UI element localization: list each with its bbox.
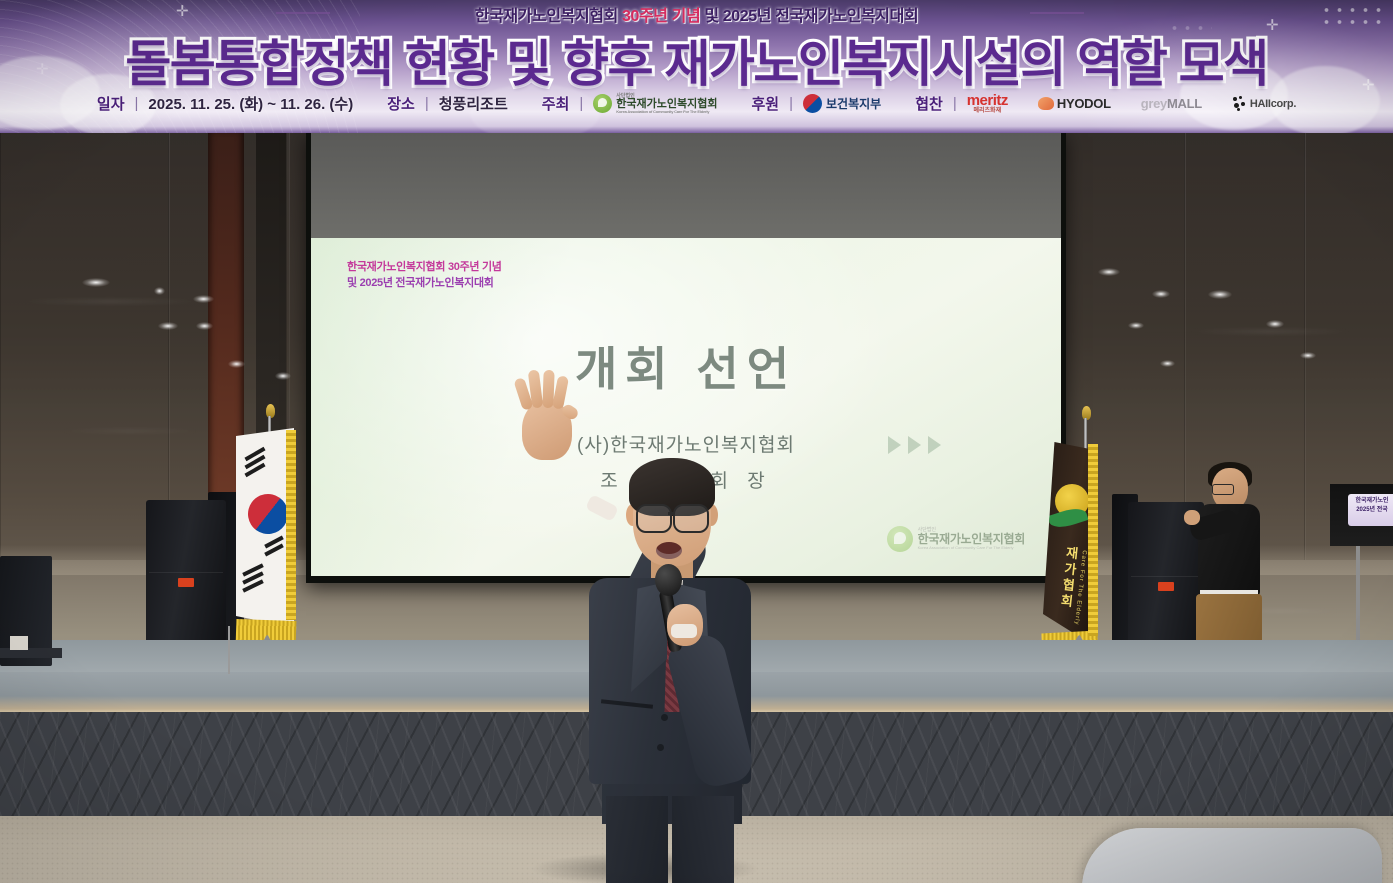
ceiling-light-reflection: [82, 278, 110, 287]
greymall-part-1: grey: [1141, 96, 1167, 111]
marble-vein: [20, 300, 200, 303]
jacket-button: [657, 744, 664, 751]
ceiling-light-reflection: [1152, 290, 1170, 298]
projection-screen-blank-area: [311, 133, 1061, 238]
presenter-raised-hand: [522, 400, 572, 460]
ceiling-light-reflection: [1208, 290, 1232, 299]
hyodol-mark-icon: [1038, 97, 1054, 110]
glasses-bridge: [668, 512, 675, 515]
presenter-shirt-cuff: [671, 624, 697, 638]
association-logo-text: 사단법인 한국재가노인복지협회 Korea Association of Com…: [616, 94, 717, 114]
small-box-prop: [10, 636, 28, 650]
ceiling-light-reflection: [158, 322, 178, 330]
triangle-right-icon: [908, 436, 921, 454]
banner-info-row: 일자 | 2025. 11. 25. (화) ~ 11. 26. (수) 장소 …: [0, 93, 1393, 114]
sponsor-haii-name: HAIIcorp.: [1250, 98, 1296, 110]
ceiling-light-reflection: [193, 295, 214, 303]
slide-header-line-2: 및 2025년 전국재가노인복지대회: [347, 276, 502, 292]
separator: |: [425, 95, 429, 112]
haii-mark-icon: [1232, 96, 1247, 111]
marble-vein: [1190, 330, 1350, 333]
ceiling-light-reflection: [1160, 360, 1175, 367]
triangle-right-icon: [928, 436, 941, 454]
technician-hand: [1184, 510, 1200, 525]
ceiling-light-reflection: [228, 360, 245, 368]
presenter-mouth: [656, 542, 682, 559]
slide-arrow-decoration: [888, 436, 941, 454]
sponsor-hyodol-logo: HYODOL: [1038, 96, 1111, 111]
association-mark-icon: [593, 94, 612, 113]
support-value: 보건복지부: [826, 95, 881, 112]
sponsor-meritz-name: meritz: [967, 93, 1008, 108]
separator: |: [953, 95, 957, 112]
ceiling-light-reflection: [154, 287, 165, 295]
mic-stand: [228, 626, 230, 674]
banner-top-seg-highlight: 30주년 기념: [622, 8, 700, 25]
triangle-right-icon: [888, 436, 901, 454]
technician-person: [1186, 462, 1276, 670]
jbl-logo-icon: [178, 578, 194, 587]
slide-header-line-1: 한국재가노인복지협회 30주년 기념: [347, 260, 502, 276]
ceiling-light-reflection: [1128, 322, 1144, 329]
date-label: 일자: [97, 93, 125, 114]
host-sub-bottom: Korea Association of Community Care For …: [616, 110, 717, 114]
banner-main-title: 돌봄통합정책 현황 및 향후 재가노인복지시설의 역할 모색: [0, 24, 1393, 96]
separator: |: [789, 95, 793, 112]
sponsor-meritz-sub: 메리츠화재: [974, 108, 1002, 114]
sponsor-hyodol-name: HYODOL: [1057, 96, 1111, 111]
venue-label: 장소: [387, 93, 415, 114]
banner-top-seg-1: 한국재가노인복지협회: [475, 8, 622, 25]
ceiling-light-reflection: [196, 322, 213, 330]
ceiling-light-reflection: [1266, 320, 1284, 328]
venue-value: 청풍리조트: [439, 93, 508, 114]
date-value: 2025. 11. 25. (화) ~ 11. 26. (수): [148, 93, 353, 114]
host-logo: 사단법인 한국재가노인복지협회 Korea Association of Com…: [593, 94, 717, 114]
banner-top-seg-2: 및 2025년 전국재가노인복지대회: [700, 8, 918, 25]
podium-sign: 한국재가노인 2025년 전국: [1348, 494, 1393, 526]
ceiling-light-reflection: [1300, 352, 1316, 359]
slide-logo-name: 한국재가노인복지협회: [918, 533, 1025, 546]
ceiling-light-reflection: [275, 372, 291, 380]
jbl-logo-icon: [1158, 582, 1174, 591]
separator: |: [579, 95, 583, 112]
sponsor-haii-logo: HAIIcorp.: [1232, 96, 1296, 111]
ceiling-light-reflection: [1098, 268, 1120, 276]
greymall-part-2: MALL: [1167, 96, 1202, 111]
flag-fringe-side: [1088, 444, 1098, 636]
microphone-icon: [655, 564, 682, 596]
taegeuk-icon: [803, 94, 822, 113]
glasses-icon: [673, 504, 709, 533]
slide-header: 한국재가노인복지협회 30주년 기념 및 2025년 전국재가노인복지대회: [347, 260, 502, 292]
slide-title: 개회 선언: [311, 333, 1061, 399]
flag-fringe-side: [286, 430, 296, 620]
screenshot-root: 한국재가노인복지협회 30주년 기념 및 2025년 전국재가노인복지대회 개회…: [0, 0, 1393, 883]
support-label: 후원: [751, 93, 779, 114]
presenter-shirt-cuff: [585, 494, 619, 522]
slide-association-logo: 사단법인 한국재가노인복지협회 Korea Association of Com…: [887, 526, 1025, 552]
host-value: 한국재가노인복지협회: [616, 99, 717, 110]
sponsor-greymall-logo: greyMALL: [1141, 96, 1202, 111]
host-label: 주최: [542, 93, 570, 114]
slide-logo-text: 사단법인 한국재가노인복지협회 Korea Association of Com…: [918, 528, 1025, 550]
banner-top-line: 한국재가노인복지협회 30주년 기념 및 2025년 전국재가노인복지대회: [0, 2, 1393, 26]
event-banner: ✛ ✛ ✛ ✛ 한국재가노인복지협회 30주년 기념 및 2025년 전국재가노…: [0, 0, 1393, 133]
audience-chair: [1082, 828, 1382, 883]
association-mark-icon: [887, 526, 913, 552]
podium-sign-line-2: 2025년 전국: [1348, 506, 1393, 515]
pa-seam: [149, 572, 223, 573]
slide-logo-sub-bottom: Korea Association of Community Care For …: [918, 546, 1025, 550]
presenter-leg: [672, 796, 734, 883]
presenter-person: [505, 392, 765, 883]
presenter-leg: [606, 796, 668, 883]
jacket-button: [661, 714, 668, 721]
support-logo: 보건복지부: [803, 94, 881, 113]
glasses-icon: [1212, 484, 1234, 495]
glasses-icon: [636, 504, 672, 533]
sponsor-label: 협찬: [915, 93, 943, 114]
pa-speaker-left: [146, 500, 226, 650]
separator: |: [135, 95, 139, 112]
marble-vein: [60, 430, 200, 432]
sponsor-meritz-logo: meritz 메리츠화재: [967, 93, 1008, 114]
podium-sign-line-1: 한국재가노인: [1348, 497, 1393, 506]
